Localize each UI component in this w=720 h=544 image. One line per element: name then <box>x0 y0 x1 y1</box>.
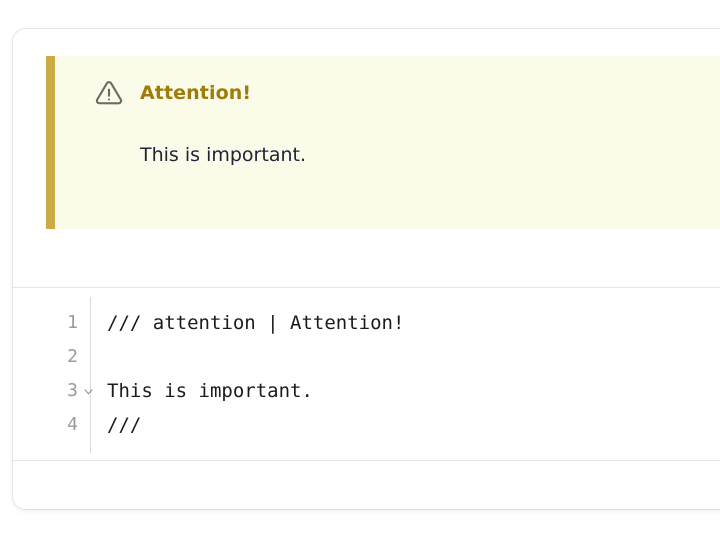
line-number-gutter: 2 <box>13 340 78 374</box>
admonition-title: Attention! <box>140 82 251 104</box>
admonition-warning-block: Attention! This is important. <box>46 56 720 229</box>
line-number: 1 <box>67 314 78 332</box>
line-number-gutter: 1 <box>13 306 78 340</box>
fold-slot <box>78 340 98 374</box>
code-line[interactable]: 3 This is important. <box>13 374 720 408</box>
code-line[interactable]: 1 /// attention | Attention! <box>13 306 720 340</box>
code-lines-container: 1 /// attention | Attention! 2 3 <box>13 306 720 442</box>
fold-slot <box>78 408 98 442</box>
admonition-header: Attention! <box>94 78 251 108</box>
fold-slot[interactable] <box>78 374 98 408</box>
code-line-text: /// <box>98 416 141 435</box>
preview-card: Attention! This is important. 1 /// atte… <box>12 28 720 510</box>
chevron-down-icon[interactable] <box>83 386 94 397</box>
fold-slot <box>78 306 98 340</box>
code-line[interactable]: 2 <box>13 340 720 374</box>
warning-triangle-icon <box>94 78 124 108</box>
code-line-text: This is important. <box>98 382 313 401</box>
line-number: 4 <box>67 416 78 434</box>
line-number: 2 <box>67 348 78 366</box>
code-line[interactable]: 4 /// <box>13 408 720 442</box>
card-footer-spacer <box>13 462 720 510</box>
admonition-body-text: This is important. <box>140 144 306 166</box>
code-line-text: /// attention | Attention! <box>98 314 404 333</box>
code-editor-pane[interactable]: 1 /// attention | Attention! 2 3 <box>13 289 720 461</box>
screenshot-viewport: Attention! This is important. 1 /// atte… <box>0 0 720 544</box>
line-number-gutter: 4 <box>13 408 78 442</box>
line-number: 3 <box>67 382 78 400</box>
rendered-preview-pane: Attention! This is important. <box>13 29 720 288</box>
line-number-gutter: 3 <box>13 374 78 408</box>
